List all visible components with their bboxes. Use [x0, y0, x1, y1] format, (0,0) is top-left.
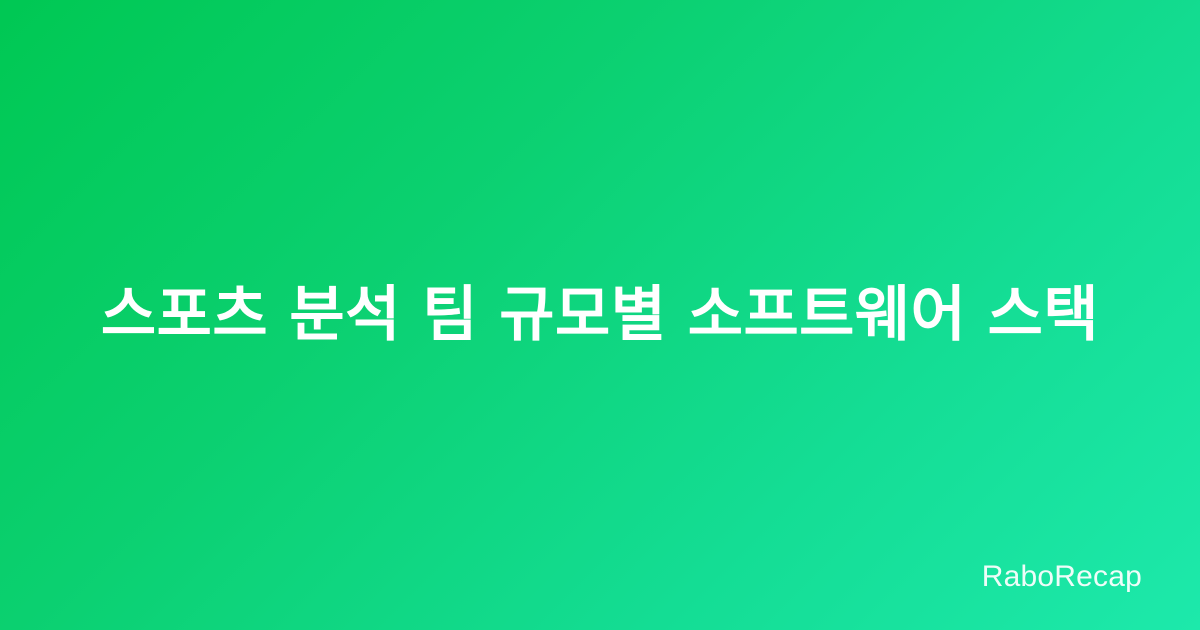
page-title: 스포츠 분석 팀 규모별 소프트웨어 스택 — [0, 277, 1200, 354]
brand-watermark: RaboRecap — [982, 562, 1142, 592]
og-card-canvas: 스포츠 분석 팀 규모별 소프트웨어 스택 RaboRecap — [0, 0, 1200, 630]
